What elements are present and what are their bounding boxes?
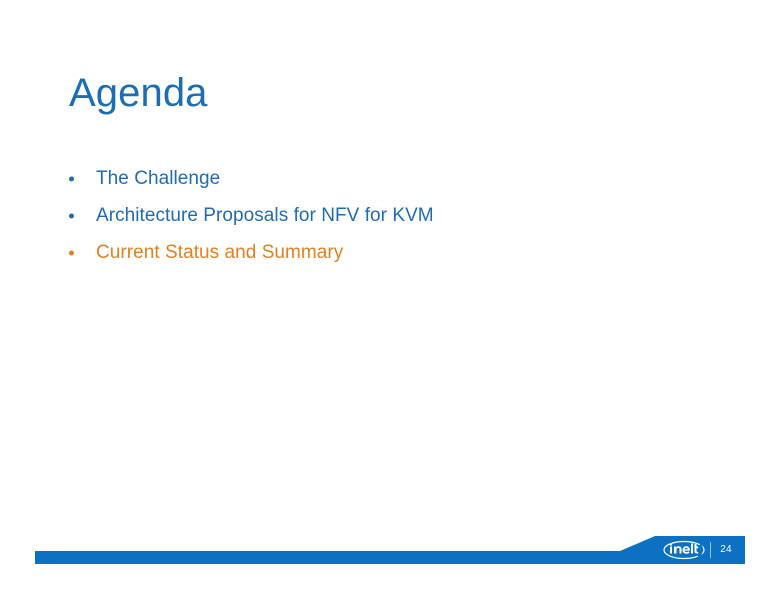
page-title: Agenda [69, 70, 208, 116]
list-item-label: The Challenge [96, 167, 220, 190]
slide-canvas: Agenda The Challenge Architecture Propos… [0, 0, 776, 600]
agenda-list: The Challenge Architecture Proposals for… [66, 160, 706, 271]
page-number: 24 [715, 543, 737, 557]
list-item[interactable]: Architecture Proposals for NFV for KVM [66, 197, 706, 234]
bullet-dot-icon [69, 250, 74, 255]
list-item[interactable]: The Challenge [66, 160, 706, 197]
footer-bar-shape [0, 530, 776, 570]
list-item-label: Architecture Proposals for NFV for KVM [96, 204, 434, 227]
intel-logo-icon [663, 540, 705, 560]
slide-footer [0, 530, 776, 570]
list-item[interactable]: Current Status and Summary [66, 234, 706, 271]
bullet-dot-icon [69, 176, 74, 181]
list-item-label: Current Status and Summary [96, 241, 343, 264]
footer-divider [710, 542, 711, 558]
bullet-dot-icon [69, 213, 74, 218]
